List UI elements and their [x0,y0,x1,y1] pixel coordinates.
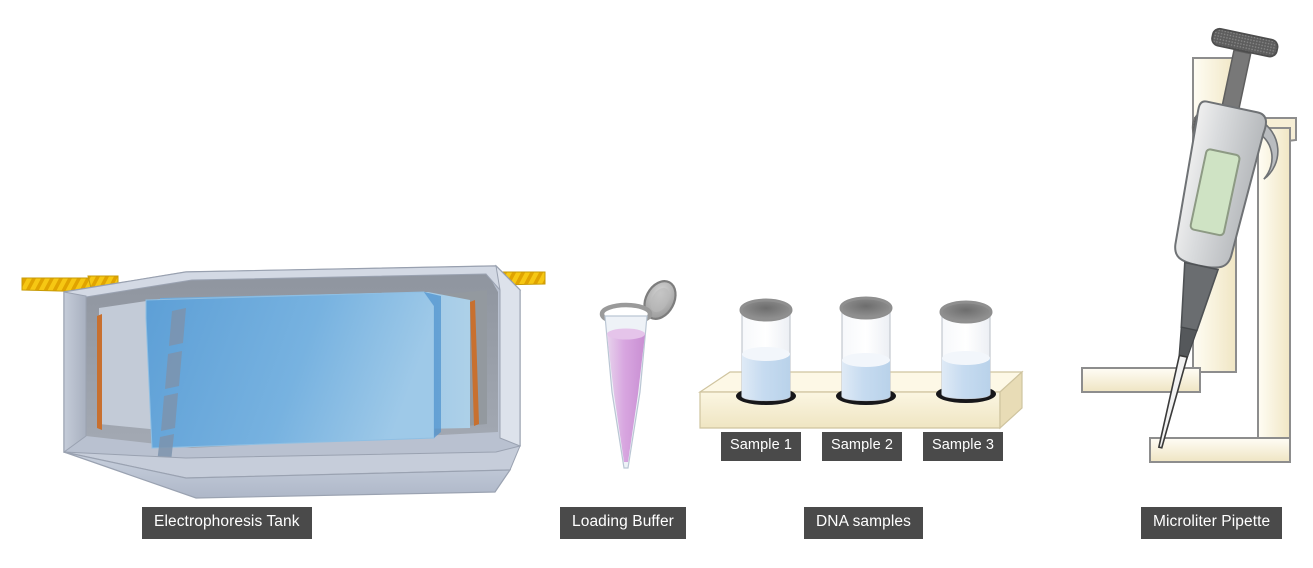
dna-samples-illustration [700,298,1022,428]
scene-illustration [0,0,1313,568]
loading-buffer-illustration [602,276,682,468]
label-sample-1: Sample 1 [721,432,801,461]
label-sample-2: Sample 2 [822,432,902,461]
figure-canvas: Electrophoresis Tank Loading Buffer DNA … [0,0,1313,568]
electrophoresis-tank-illustration [22,266,545,498]
electrode-left-icon [97,314,102,430]
sample-vial-1 [736,300,796,405]
label-dna-samples: DNA samples [804,507,923,539]
sample-vial-2 [836,298,896,405]
sample-vial-3 [936,302,996,403]
label-electrophoresis-tank: Electrophoresis Tank [142,507,312,539]
label-microliter-pipette: Microliter Pipette [1141,507,1282,539]
label-loading-buffer: Loading Buffer [560,507,686,539]
stand-base-icon [1150,438,1290,462]
label-sample-3: Sample 3 [923,432,1003,461]
stand-column-icon [1258,128,1290,452]
microliter-pipette-illustration [1082,27,1301,462]
